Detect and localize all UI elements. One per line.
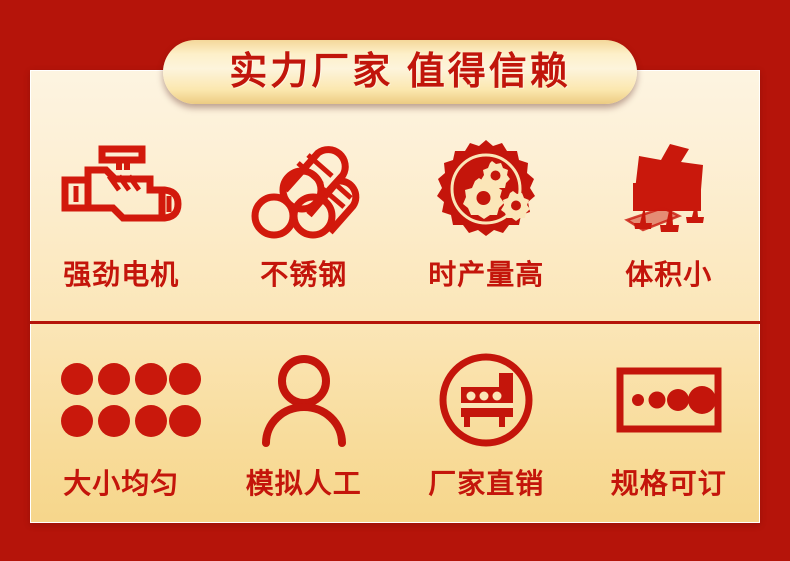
- feature-label: 大小均匀: [63, 470, 179, 498]
- page-title: 实力厂家 值得信赖: [229, 53, 571, 91]
- title-banner-pill: 实力厂家 值得信赖: [163, 40, 637, 104]
- features-row-2: 大小均匀 模拟人工 厂家直销: [30, 324, 760, 523]
- feature-label: 厂家直销: [428, 470, 544, 498]
- uniform-dots-icon: [61, 350, 181, 450]
- feature-label: 强劲电机: [63, 261, 179, 289]
- feature-cell-engine[interactable]: 强劲电机: [30, 104, 213, 321]
- engine-icon: [61, 137, 181, 247]
- feature-label: 不锈钢: [260, 261, 347, 289]
- feature-cell-uniform-size[interactable]: 大小均匀: [30, 324, 213, 523]
- feature-cell-stainless-steel[interactable]: 不锈钢: [213, 104, 396, 321]
- feature-label: 规格可订: [611, 470, 727, 498]
- feature-cell-output[interactable]: 时产量高: [395, 104, 578, 321]
- gears-icon: [434, 137, 538, 247]
- feature-cell-custom-spec[interactable]: 规格可订: [578, 324, 761, 523]
- feature-cell-direct-sales[interactable]: 厂家直销: [395, 324, 578, 523]
- feature-label: 体积小: [625, 261, 712, 289]
- compact-machine-icon: [617, 137, 721, 247]
- features-row-1: 强劲电机 不锈钢: [30, 104, 760, 321]
- size-options-icon: [616, 350, 722, 450]
- feature-label: 模拟人工: [246, 470, 362, 498]
- feature-cell-compact[interactable]: 体积小: [578, 104, 761, 321]
- steel-pipes-icon: [252, 137, 356, 247]
- factory-circle-icon: [437, 350, 535, 450]
- feature-label: 时产量高: [428, 261, 544, 289]
- feature-cell-manual-simulation[interactable]: 模拟人工: [213, 324, 396, 523]
- person-icon: [258, 350, 350, 450]
